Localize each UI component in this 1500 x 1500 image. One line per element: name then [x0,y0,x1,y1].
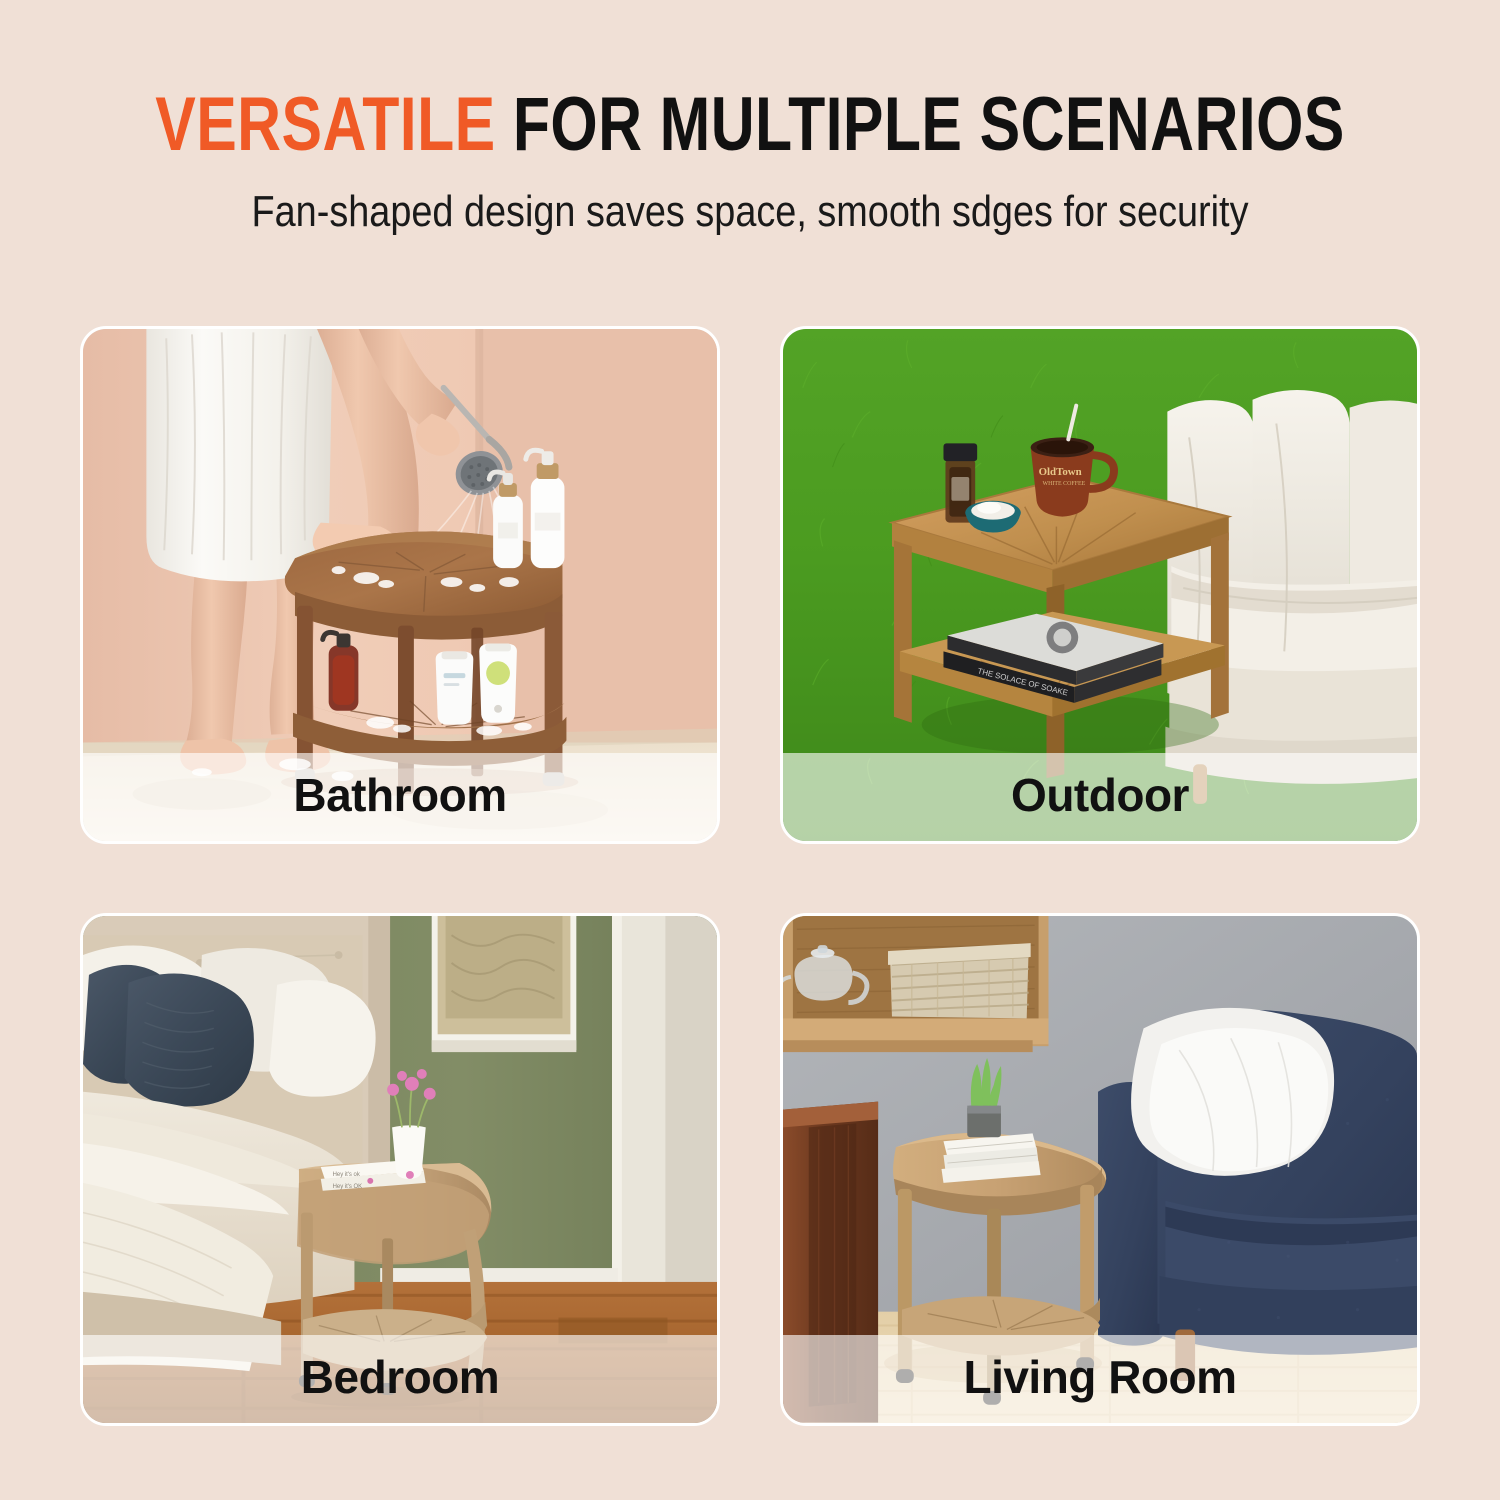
scenario-grid: Bathroom [80,326,1420,1426]
headline-rest: FOR MULTIPLE SCENARIOS [496,82,1345,167]
svg-text:WHITE COFFEE: WHITE COFFEE [1043,481,1086,487]
outdoor-photo: THE SOLACE OF SOAKE [783,329,1417,841]
header: VERSATILE FOR MULTIPLE SCENARIOS Fan-sha… [0,0,1500,236]
living-room-photo [783,916,1417,1423]
infographic-page: VERSATILE FOR MULTIPLE SCENARIOS Fan-sha… [0,0,1500,1500]
page-title: VERSATILE FOR MULTIPLE SCENARIOS [150,86,1350,164]
scene-card-outdoor[interactable]: THE SOLACE OF SOAKE [780,326,1420,844]
page-subtitle: Fan-shaped design saves space, smooth sd… [105,188,1395,236]
scene-card-living-room[interactable]: Living Room [780,913,1420,1426]
svg-text:Hey it's ok: Hey it's ok [333,1172,360,1178]
scene-card-bedroom[interactable]: Hey it's ok Hey it's OK [80,913,720,1426]
scene-card-bathroom[interactable]: Bathroom [80,326,720,844]
bedroom-photo: Hey it's ok Hey it's OK [83,916,717,1423]
bathroom-photo [83,329,717,841]
svg-text:OldTown: OldTown [1039,466,1082,478]
headline-accent: VERSATILE [155,82,495,167]
svg-text:Hey it's OK: Hey it's OK [333,1184,363,1190]
